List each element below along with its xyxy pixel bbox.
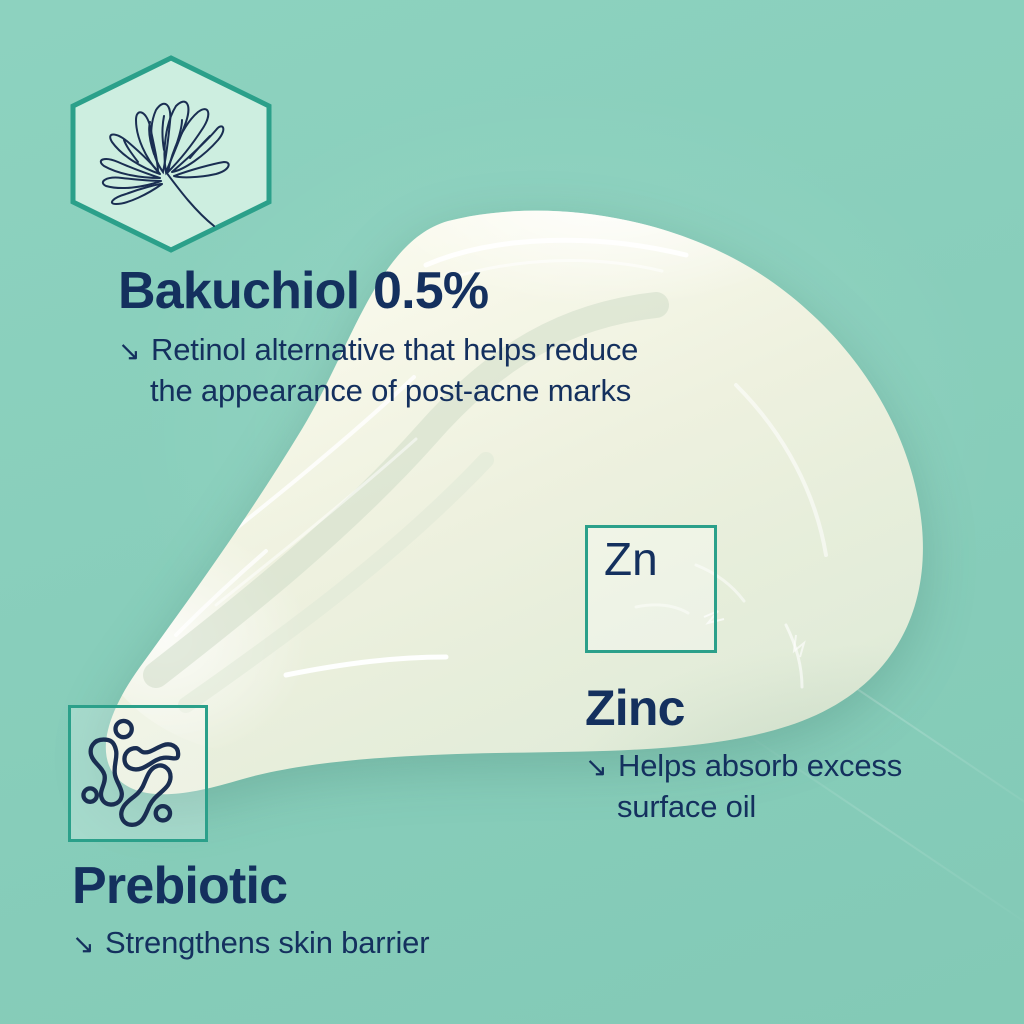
prebiotic-badge-square xyxy=(68,705,208,842)
prebiotic-heading: Prebiotic xyxy=(72,860,429,912)
zinc-badge-square: Zn xyxy=(585,525,717,653)
bakuchiol-description-line-1: Retinol alternative that helps reduce xyxy=(151,332,638,367)
microbiome-molecules-icon xyxy=(71,708,205,839)
bakuchiol-description: ↘ Retinol alternative that helps reduce … xyxy=(118,329,638,411)
prebiotic-description-line-1: Strengthens skin barrier xyxy=(105,925,429,960)
arrow-down-right-icon: ↘ xyxy=(118,336,143,366)
zinc-symbol-label: Zn xyxy=(604,534,658,585)
zinc-description: ↘ Helps absorb excess surface oil xyxy=(585,745,902,827)
zinc-description-line-1: Helps absorb excess xyxy=(618,748,902,783)
bakuchiol-badge-hexagon xyxy=(66,54,276,254)
dandelion-flower-icon xyxy=(66,54,276,254)
zinc-heading: Zinc xyxy=(585,683,902,733)
arrow-down-right-icon: ↘ xyxy=(585,752,610,782)
infographic-canvas: Bakuchiol 0.5% ↘ Retinol alternative tha… xyxy=(0,0,1024,1024)
zinc-description-line-2: surface oil xyxy=(585,786,902,827)
zinc-text-block: Zinc ↘ Helps absorb excess surface oil xyxy=(585,683,902,827)
arrow-down-right-icon: ↘ xyxy=(72,929,97,959)
bakuchiol-description-line-2: the appearance of post-acne marks xyxy=(118,370,638,411)
prebiotic-description: ↘ Strengthens skin barrier xyxy=(72,922,429,963)
prebiotic-text-block: Prebiotic ↘ Strengthens skin barrier xyxy=(72,860,429,963)
bakuchiol-heading: Bakuchiol 0.5% xyxy=(118,265,638,317)
bakuchiol-text-block: Bakuchiol 0.5% ↘ Retinol alternative tha… xyxy=(118,265,638,411)
